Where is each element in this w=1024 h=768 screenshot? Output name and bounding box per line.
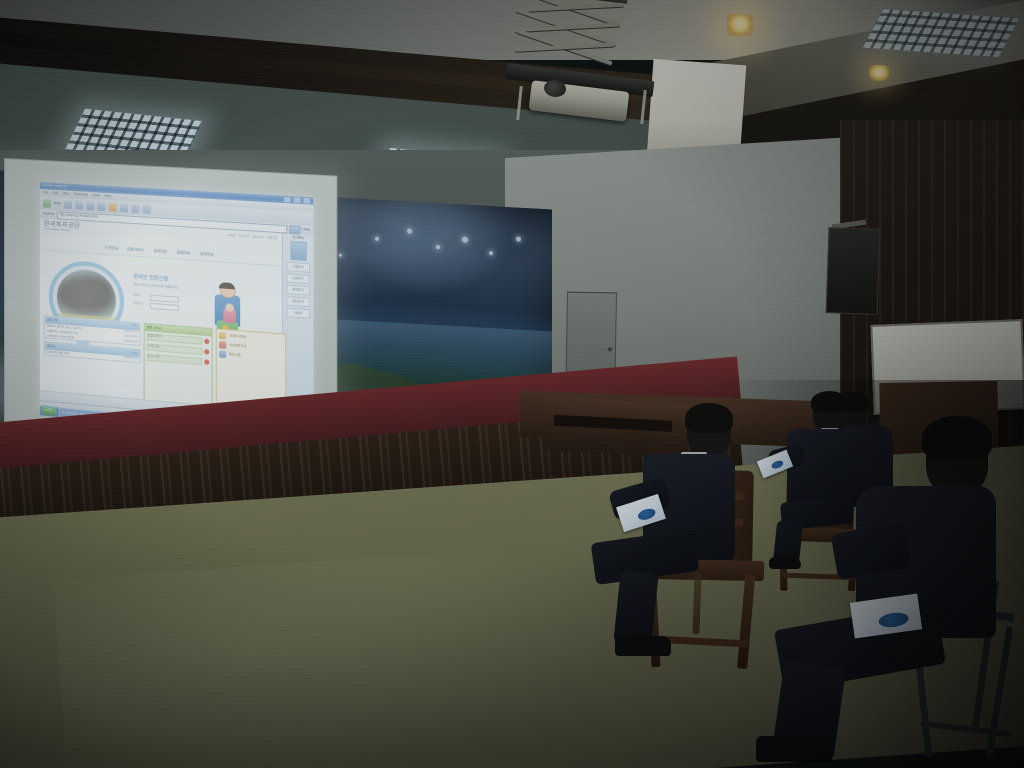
web-page-main-column: 한국복지공단 Korea Welfare Service HOME 사이트맵 E… bbox=[40, 218, 282, 422]
hero-subtitle: 언제 어디서나 편리하게 이용하세요 bbox=[133, 283, 179, 289]
brochure-logo bbox=[878, 611, 910, 629]
hair bbox=[685, 403, 733, 433]
stop-icon[interactable] bbox=[75, 201, 83, 210]
login-id-label: 아이디 bbox=[133, 295, 147, 299]
close-icon[interactable] bbox=[302, 197, 311, 205]
floor-light-reflection bbox=[53, 541, 626, 768]
notice-heading: 공지사항 bbox=[47, 318, 58, 322]
web-page-body: 한국복지공단 Korea Welfare Service HOME 사이트맵 E… bbox=[40, 218, 314, 425]
print-icon[interactable] bbox=[143, 205, 151, 214]
history-icon[interactable] bbox=[131, 204, 139, 213]
ceiling-projector-rig bbox=[500, 0, 670, 134]
shin bbox=[613, 570, 658, 646]
arrow-icon bbox=[205, 349, 210, 355]
login-form[interactable]: 아이디 비밀번호 bbox=[133, 293, 179, 311]
quick-menu-button[interactable]: 자료실 bbox=[286, 308, 310, 319]
notice-column: 공지사항 more 2008년 상반기 정기 신청 안내 2008.03.12 … bbox=[44, 315, 141, 402]
news-more-link[interactable]: more bbox=[131, 352, 137, 355]
mascot-child-head bbox=[225, 303, 233, 312]
attendee-foreground-right bbox=[760, 424, 1010, 768]
hair bbox=[811, 391, 848, 413]
mascot-hair bbox=[219, 282, 235, 289]
login-id-input[interactable] bbox=[150, 294, 179, 302]
nav-item-2[interactable]: 민원서비스 bbox=[127, 248, 144, 253]
refresh-icon[interactable] bbox=[86, 201, 94, 210]
maximize-icon[interactable] bbox=[293, 196, 302, 204]
ceiling-spotlight-right bbox=[869, 65, 889, 81]
quick-service-label[interactable]: 상담 신청 bbox=[147, 353, 203, 365]
wall-mounted-speaker bbox=[826, 227, 881, 315]
arrow-icon bbox=[205, 338, 210, 344]
nav-item-3[interactable]: 정보마당 bbox=[154, 250, 168, 255]
hero-title: 온라인 민원신청 bbox=[133, 275, 168, 283]
address-label: Address bbox=[43, 212, 55, 216]
quick-menu-heading: 퀴크메뉴 bbox=[292, 236, 304, 240]
info-link-label[interactable]: 전자민원 안내 bbox=[229, 344, 246, 348]
window-controls[interactable] bbox=[283, 196, 311, 205]
quick-menu-button[interactable]: 조회하기 bbox=[286, 273, 310, 284]
nav-item-5[interactable]: 참여마당 bbox=[200, 253, 214, 258]
door-knob-icon bbox=[608, 347, 612, 351]
menu-view[interactable]: View bbox=[62, 192, 69, 196]
utility-nav-home[interactable]: HOME bbox=[227, 235, 235, 238]
arrow-icon bbox=[205, 359, 210, 365]
menu-tools[interactable]: Tools bbox=[92, 194, 100, 198]
home-icon[interactable] bbox=[98, 202, 106, 211]
news-heading: 새소식 bbox=[47, 345, 55, 349]
minimize-icon[interactable] bbox=[283, 196, 292, 204]
login-row-pw[interactable]: 비밀번호 bbox=[133, 301, 179, 311]
back-label[interactable]: Back bbox=[54, 202, 61, 206]
nav-item-1[interactable]: 기관안내 bbox=[104, 247, 118, 252]
utility-nav[interactable]: HOME 사이트맵 ENGLISH 관련기관 bbox=[227, 233, 278, 241]
menu-favorites[interactable]: Favorites bbox=[74, 193, 88, 197]
login-pw-input[interactable] bbox=[150, 302, 179, 310]
attendee-front-left bbox=[585, 408, 735, 668]
cyber-office-icon bbox=[219, 332, 226, 340]
quick-menu-button[interactable]: 신청하기 bbox=[286, 262, 310, 273]
hair bbox=[922, 416, 992, 460]
quick-service-panel: 빠른 서비스 증명서 발급 자격 조회 상담 신청 bbox=[144, 323, 213, 409]
search-icon[interactable] bbox=[109, 203, 117, 212]
ceiling-spotlight-center bbox=[727, 14, 753, 36]
go-button[interactable] bbox=[289, 225, 300, 234]
e-service-icon bbox=[219, 341, 226, 349]
info-link-label[interactable]: 사이버 민원실 bbox=[229, 335, 246, 339]
notice-more-link[interactable]: more bbox=[131, 325, 137, 328]
login-pw-label: 비밀번호 bbox=[133, 303, 147, 307]
info-link-label[interactable]: 문의 전화 bbox=[229, 353, 241, 357]
menu-edit[interactable]: Edit bbox=[52, 192, 58, 196]
utility-nav-related[interactable]: 관련기관 bbox=[267, 238, 277, 241]
news-date: 2008.03.10 bbox=[124, 357, 137, 361]
promo-video-thumbnail[interactable] bbox=[290, 241, 306, 261]
quick-menu-button[interactable]: 상담하기 bbox=[286, 296, 310, 307]
menu-help[interactable]: Help bbox=[104, 195, 111, 199]
back-icon[interactable] bbox=[43, 199, 51, 208]
auditorium-presentation-photo: Internet Explorer File Edit View Favorit… bbox=[0, 0, 1024, 768]
start-button[interactable]: 시작 bbox=[42, 406, 56, 415]
menu-file[interactable]: File bbox=[43, 191, 48, 195]
chair-leg bbox=[737, 574, 755, 669]
favorites-icon[interactable] bbox=[120, 203, 128, 212]
browser-title: Internet Explorer bbox=[42, 184, 67, 189]
utility-nav-sitemap[interactable]: 사이트맵 bbox=[239, 236, 249, 239]
nav-item-4[interactable]: 알림마당 bbox=[177, 251, 191, 256]
quick-menu-button[interactable]: 발급하기 bbox=[286, 285, 310, 296]
utility-nav-english[interactable]: ENGLISH bbox=[252, 237, 264, 240]
shoe bbox=[756, 736, 832, 762]
notice-date: 2008.02.28 bbox=[124, 340, 137, 344]
phone-icon bbox=[219, 350, 226, 358]
links-label[interactable]: Links bbox=[302, 228, 310, 232]
brochure-logo bbox=[637, 507, 657, 522]
shoe bbox=[615, 636, 671, 656]
forward-icon[interactable] bbox=[64, 200, 72, 209]
